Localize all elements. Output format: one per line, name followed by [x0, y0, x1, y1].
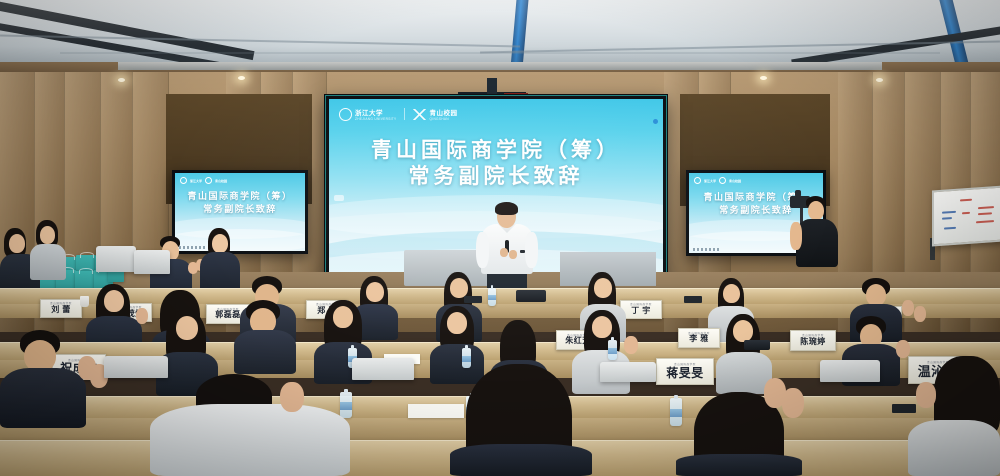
chair — [352, 358, 414, 380]
qingshan-logo-text: 青山校园 — [429, 107, 457, 117]
attendee-body — [0, 368, 86, 428]
qingshan-logo-subtext: QINGSHAN — [429, 117, 457, 121]
bottle-label — [340, 402, 352, 410]
speaker-wristwatch — [520, 250, 525, 253]
attendee-body — [150, 404, 350, 476]
side-left-logo-row: 浙江大学 青山校园 — [180, 177, 227, 184]
tissue-box — [744, 340, 770, 350]
attendee-head — [333, 306, 353, 328]
attendee-hand — [280, 382, 304, 412]
attendee-head — [104, 290, 124, 312]
attendee-head — [447, 312, 467, 334]
whiteboard-writing — [976, 220, 994, 223]
staff-head — [9, 234, 25, 253]
side-display-left-content: 浙江大学 青山校园 青山国际商学院（筹） 常务副院长致辞 — [175, 173, 305, 251]
side-left-logo-text: 浙江大学 — [190, 179, 202, 183]
attendee-hand — [902, 300, 914, 316]
main-display-title: 青山国际商学院（筹） 常务副院长致辞 — [329, 137, 663, 190]
document-paper — [408, 404, 464, 418]
operator-arm — [790, 222, 802, 250]
water-bottle — [608, 340, 617, 360]
screen-logo-row: 浙江大学 ZHEJIANG UNIVERSITY 青山校园 QINGSHAN — [339, 107, 457, 121]
name-placard: 青山国际商学院 丁 宇 — [620, 300, 662, 319]
logo-divider — [404, 108, 405, 120]
projector-mount — [487, 78, 497, 94]
speaker-hair — [495, 202, 518, 215]
name-placard: 青山国际商学院 陈琬婷 — [790, 330, 836, 351]
screen-status-dot — [653, 119, 658, 124]
side-left-title-line1: 青山国际商学院（筹） — [175, 190, 305, 203]
qingshan-mountain-icon — [205, 177, 212, 184]
attendee-head — [450, 278, 468, 298]
zju-seal-icon — [180, 177, 187, 184]
display-title-line2: 常务副院长致辞 — [329, 163, 663, 189]
placard-name: 李 雅 — [689, 335, 709, 343]
placard-name: 丁 宇 — [631, 307, 651, 315]
qingshan-logo: 青山校园 QINGSHAN — [413, 107, 457, 121]
speaker-hand-left — [500, 248, 508, 257]
whiteboard-writing — [960, 199, 972, 201]
side-right-logo-row: 浙江大学 青山校园 — [694, 177, 741, 184]
desk-microphone — [684, 296, 702, 303]
zju-logo-subtext: ZHEJIANG UNIVERSITY — [355, 117, 396, 121]
screen-side-chip — [334, 195, 344, 201]
bottle-label — [670, 409, 682, 417]
speaker-arm-left — [476, 232, 489, 268]
side-display-left-title: 青山国际商学院（筹） 常务副院长致辞 — [175, 190, 305, 216]
qingshan-mountain-icon — [719, 177, 726, 184]
water-bottle — [670, 398, 682, 426]
side-left-logo-text2: 青山校园 — [215, 179, 227, 183]
attendee-hand — [914, 306, 926, 322]
whiteboard-writing — [978, 206, 994, 209]
attendee-hand — [916, 382, 936, 408]
qingshan-mountain-icon — [413, 109, 426, 120]
side-left-title-line2: 常务副院长致辞 — [175, 203, 305, 216]
attendee-head — [176, 316, 198, 340]
whiteboard-writing — [962, 212, 970, 214]
ceiling-shading — [0, 0, 1000, 66]
chair — [96, 246, 136, 272]
attendee-head — [592, 316, 612, 338]
display-title-line1: 青山国际商学院（筹） — [329, 137, 663, 163]
operator-shirt — [796, 219, 838, 267]
ceiling-downlight — [238, 76, 245, 80]
placard-name: 郭磊磊 — [215, 311, 241, 319]
whiteboard-writing — [978, 212, 992, 214]
operator-head — [808, 201, 824, 220]
ceiling — [0, 0, 1000, 66]
placard-name: 刘 蕾 — [51, 306, 71, 314]
paper-cup — [80, 296, 89, 307]
whiteboard — [932, 186, 1000, 247]
attendee-head — [866, 284, 886, 306]
attendee-head — [733, 320, 753, 342]
attendee-head — [366, 282, 384, 302]
chair — [600, 362, 656, 382]
water-bottle — [340, 392, 352, 418]
side-right-logo-text2: 青山校园 — [729, 179, 741, 183]
zhejiang-university-logo: 浙江大学 ZHEJIANG UNIVERSITY — [339, 107, 396, 121]
whiteboard-writing — [944, 227, 956, 229]
side-display-controls[interactable] — [179, 246, 205, 249]
zju-seal-icon — [694, 177, 701, 184]
chair — [820, 360, 880, 382]
placard-name: 蒋旻旻 — [666, 367, 704, 379]
side-right-logo-text: 浙江大学 — [704, 179, 716, 183]
attendee-hand-clapping — [624, 336, 638, 354]
zju-logo-text: 浙江大学 — [355, 107, 396, 117]
tissue-box — [516, 290, 546, 302]
bottle-label — [488, 295, 496, 300]
attendee-body — [234, 330, 296, 374]
ceiling-downlight — [118, 78, 125, 82]
speaker-hand-right — [509, 250, 517, 259]
chair — [134, 250, 170, 274]
attendee-head — [723, 284, 740, 303]
attendee-hand-clapping — [782, 388, 804, 418]
staff-body — [30, 244, 66, 280]
side-display-controls[interactable] — [693, 248, 719, 251]
desk-microphone — [464, 296, 482, 303]
camera-top-plate — [795, 190, 801, 197]
whiteboard-writing — [942, 211, 956, 213]
ceiling-downlight — [760, 76, 767, 80]
name-placard: 青山国际商学院 蒋旻旻 — [656, 358, 714, 385]
attendee-body — [676, 454, 802, 476]
placard-name: 陈琬婷 — [800, 338, 826, 346]
water-bottle — [488, 288, 496, 306]
attendee-body — [450, 444, 592, 476]
attendee-body — [908, 420, 1000, 476]
bottle-label — [608, 348, 617, 354]
conference-hall-photo: 浙江大学 ZHEJIANG UNIVERSITY 青山校园 QINGSHAN 青… — [0, 0, 1000, 476]
chair — [104, 356, 168, 378]
attendee-hand-clapping — [896, 340, 910, 358]
attendee-head — [594, 278, 612, 298]
name-placard: 青山国际商学院 李 雅 — [678, 328, 720, 348]
side-display-left[interactable]: 浙江大学 青山校园 青山国际商学院（筹） 常务副院长致辞 — [172, 170, 308, 254]
desk-microphone — [892, 404, 916, 413]
ceiling-downlight — [876, 78, 883, 82]
zju-seal-icon — [339, 108, 352, 121]
attendee-body — [430, 344, 484, 384]
speaker-arm-right — [525, 232, 538, 268]
ceiling-soffit-inner — [118, 62, 882, 70]
attendee-hand — [136, 308, 148, 324]
attendee-head — [212, 234, 228, 253]
water-bottle — [462, 348, 471, 368]
whiteboard-writing — [942, 217, 952, 219]
staff-head — [40, 226, 55, 244]
name-placard: 青山国际商学院 刘 蕾 — [40, 299, 82, 318]
bottle-label — [462, 356, 471, 362]
